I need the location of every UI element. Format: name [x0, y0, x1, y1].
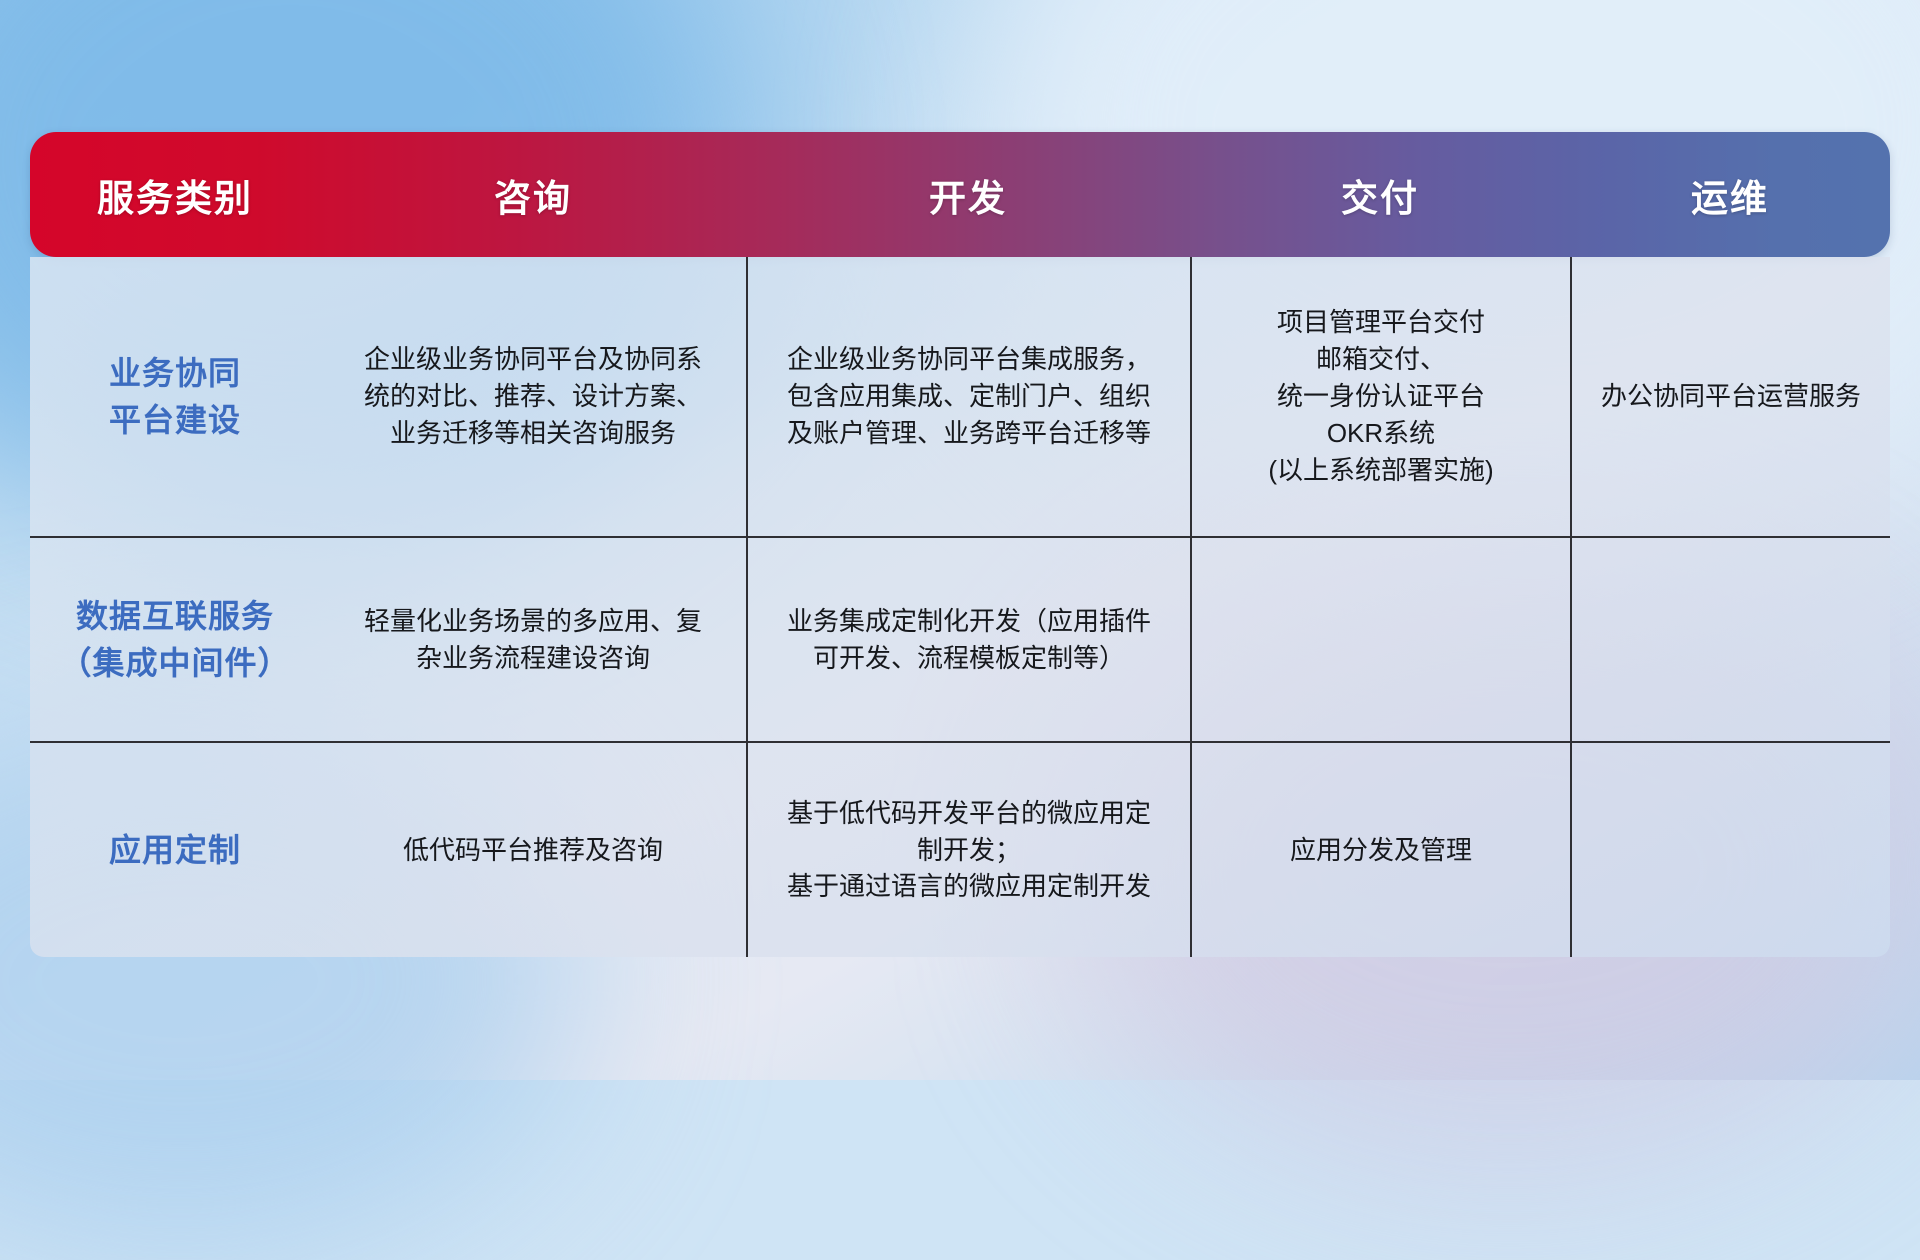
- column-header-consulting: 咨询: [320, 132, 746, 257]
- column-header-service-category: 服务类别: [30, 132, 320, 257]
- cell-development: 基于低代码开发平台的微应用定 制开发； 基于通过语言的微应用定制开发: [746, 743, 1190, 957]
- table-header-row: 服务类别 咨询 开发 交付 运维: [30, 132, 1890, 257]
- cell-operations: 办公协同平台运营服务: [1570, 257, 1890, 536]
- cell-category: 数据互联服务 （集成中间件）: [30, 538, 320, 741]
- cell-delivery: 应用分发及管理: [1190, 743, 1570, 957]
- cell-operations: [1570, 538, 1890, 741]
- cell-operations: [1570, 743, 1890, 957]
- slide-canvas: 服务类别 咨询 开发 交付 运维 业务协同 平台建设 企业级业务协同平台及协同系…: [0, 0, 1920, 1080]
- column-header-operations: 运维: [1570, 132, 1890, 257]
- cell-category: 业务协同 平台建设: [30, 257, 320, 536]
- cell-consulting: 轻量化业务场景的多应用、复 杂业务流程建设咨询: [320, 538, 746, 741]
- table-row: 应用定制 低代码平台推荐及咨询 基于低代码开发平台的微应用定 制开发； 基于通过…: [30, 743, 1890, 957]
- cell-consulting: 低代码平台推荐及咨询: [320, 743, 746, 957]
- service-matrix-table: 服务类别 咨询 开发 交付 运维 业务协同 平台建设 企业级业务协同平台及协同系…: [30, 132, 1890, 957]
- cell-consulting: 企业级业务协同平台及协同系 统的对比、推荐、设计方案、 业务迁移等相关咨询服务: [320, 257, 746, 536]
- column-header-delivery: 交付: [1190, 132, 1570, 257]
- cell-development: 企业级业务协同平台集成服务， 包含应用集成、定制门户、组织 及账户管理、业务跨平…: [746, 257, 1190, 536]
- cell-delivery: 项目管理平台交付 邮箱交付、 统一身份认证平台 OKR系统 (以上系统部署实施): [1190, 257, 1570, 536]
- table-row: 业务协同 平台建设 企业级业务协同平台及协同系 统的对比、推荐、设计方案、 业务…: [30, 257, 1890, 538]
- column-header-development: 开发: [746, 132, 1190, 257]
- table-row: 数据互联服务 （集成中间件） 轻量化业务场景的多应用、复 杂业务流程建设咨询 业…: [30, 538, 1890, 743]
- table-body: 业务协同 平台建设 企业级业务协同平台及协同系 统的对比、推荐、设计方案、 业务…: [30, 257, 1890, 957]
- cell-delivery: [1190, 538, 1570, 741]
- cell-category: 应用定制: [30, 743, 320, 957]
- cell-development: 业务集成定制化开发（应用插件 可开发、流程模板定制等）: [746, 538, 1190, 741]
